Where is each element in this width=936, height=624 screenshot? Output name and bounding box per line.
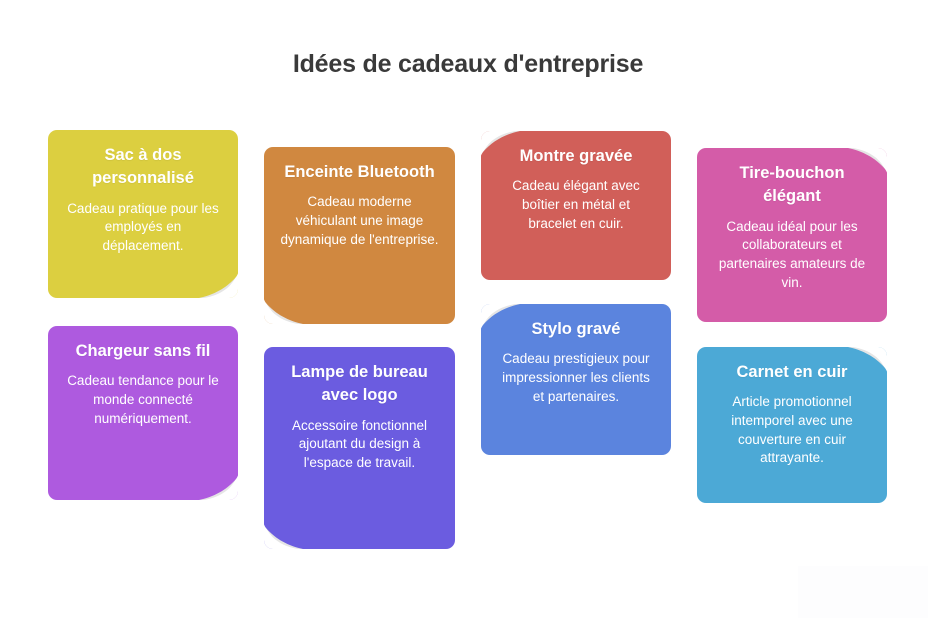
card-description: Cadeau tendance pour le monde connecté n… — [64, 372, 222, 428]
page-curl-icon — [193, 471, 238, 500]
card-title: Sac à dos personnalisé — [64, 144, 222, 191]
card-title: Chargeur sans fil — [64, 340, 222, 363]
card-description: Cadeau moderne véhiculant une image dyna… — [280, 193, 439, 249]
card-description: Cadeau idéal pour les collaborateurs et … — [713, 218, 871, 293]
card-title: Lampe de bureau avec logo — [280, 361, 439, 408]
card-title: Stylo gravé — [497, 318, 655, 341]
card-title: Enceinte Bluetooth — [280, 161, 439, 184]
page-curl-icon — [193, 269, 238, 298]
watermark-artifact — [798, 566, 928, 618]
card-description: Article promotionnel intemporel avec une… — [713, 393, 871, 468]
gift-idea-card[interactable]: Enceinte BluetoothCadeau moderne véhicul… — [264, 147, 455, 324]
gift-idea-card[interactable]: Lampe de bureau avec logoAccessoire fonc… — [264, 347, 455, 549]
card-description: Accessoire fonctionnel ajoutant du desig… — [280, 417, 439, 473]
card-title: Tire-bouchon élégant — [713, 162, 871, 209]
page-title: Idées de cadeaux d'entreprise — [0, 50, 936, 79]
card-description: Cadeau élégant avec boîtier en métal et … — [497, 177, 655, 233]
gift-idea-card[interactable]: Tire-bouchon élégantCadeau idéal pour le… — [697, 148, 887, 322]
gift-idea-card[interactable]: Carnet en cuirArticle promotionnel intem… — [697, 347, 887, 503]
card-title: Carnet en cuir — [713, 361, 871, 384]
page-curl-icon — [264, 295, 309, 324]
page-curl-icon — [264, 520, 309, 549]
card-description: Cadeau prestigieux pour impressionner le… — [497, 350, 655, 406]
gift-idea-card[interactable]: Chargeur sans filCadeau tendance pour le… — [48, 326, 238, 500]
infographic-canvas: Idées de cadeaux d'entreprise Sac à dos … — [0, 0, 936, 624]
gift-idea-card[interactable]: Sac à dos personnaliséCadeau pratique po… — [48, 130, 238, 298]
gift-idea-card[interactable]: Stylo gravéCadeau prestigieux pour impre… — [481, 304, 671, 455]
card-description: Cadeau pratique pour les employés en dép… — [64, 200, 222, 256]
gift-idea-card[interactable]: Montre gravéeCadeau élégant avec boîtier… — [481, 131, 671, 280]
card-title: Montre gravée — [497, 145, 655, 168]
